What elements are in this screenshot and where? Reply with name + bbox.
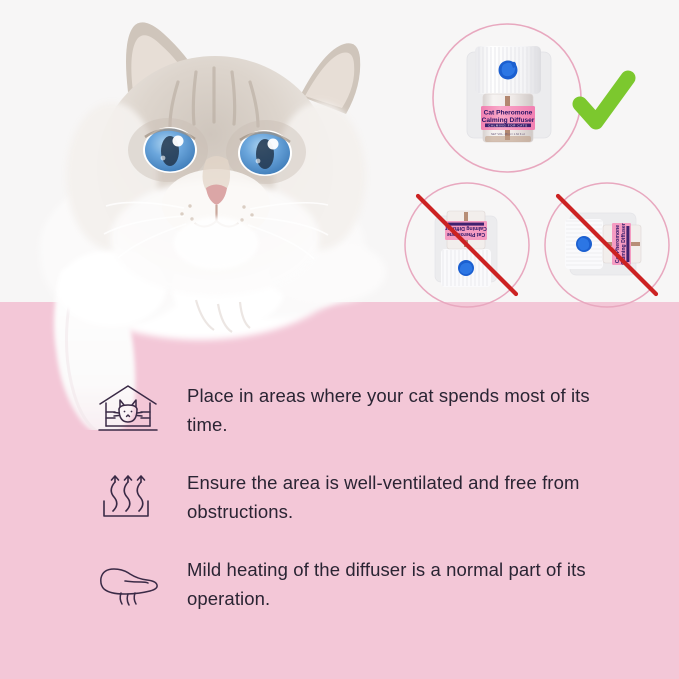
instruction-item-heating: Mild heating of the diffuser is a normal…	[95, 554, 595, 613]
brand-logo-icon	[499, 61, 518, 80]
instruction-text-heating: Mild heating of the diffuser is a normal…	[187, 554, 595, 613]
label-line-3: CALMING FOR CATS	[488, 123, 528, 127]
instruction-text-ventilation: Ensure the area is well-ventilated and f…	[187, 467, 595, 526]
airflow-ventilation-icon	[95, 467, 187, 523]
incorrect-upside-down-cell: Cat Pheromone Calming Diffuser	[400, 178, 535, 313]
usage-orientation-diagram: Cat Pheromone Calming Diffuser CALMING F…	[395, 18, 679, 302]
label-volume: NET VOL. 48 ml / 1.62 fl.oz	[491, 132, 526, 136]
green-check-icon	[580, 78, 628, 122]
warm-hand-icon	[95, 554, 187, 608]
instruction-item-placement: Place in areas where your cat spends mos…	[95, 380, 595, 439]
label-line-1: Cat Pheromone	[484, 110, 533, 117]
house-with-cat-icon	[95, 380, 187, 434]
incorrect-sideways-cell: Cat Pheromone Calming Diffuser	[540, 178, 675, 313]
instruction-text-placement: Place in areas where your cat spends mos…	[187, 380, 595, 439]
instruction-item-ventilation: Ensure the area is well-ventilated and f…	[95, 467, 595, 526]
correct-orientation-cell: Cat Pheromone Calming Diffuser CALMING F…	[405, 18, 655, 178]
instruction-list: Place in areas where your cat spends mos…	[0, 302, 679, 679]
product-instruction-infographic: Cat Pheromone Calming Diffuser CALMING F…	[0, 0, 679, 679]
